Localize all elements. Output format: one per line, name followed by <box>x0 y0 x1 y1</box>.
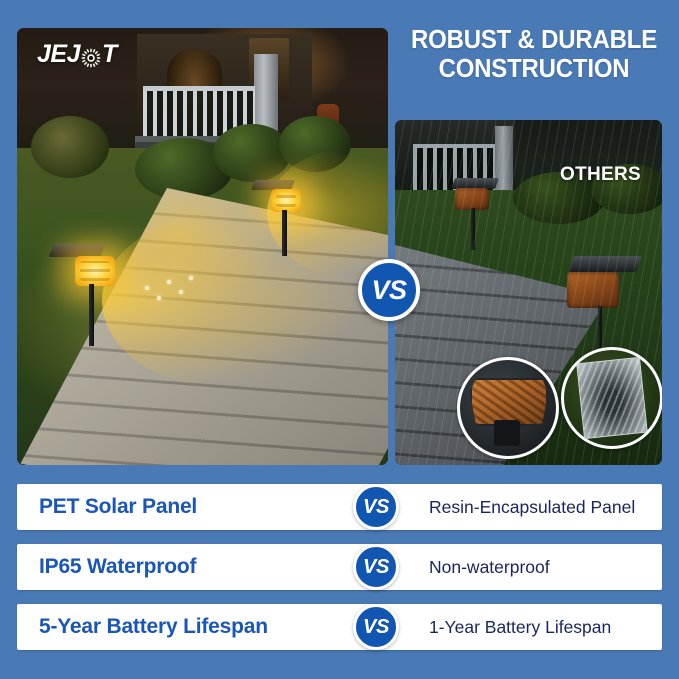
cracked-panel-closeup <box>576 357 648 439</box>
flower <box>189 276 193 280</box>
ground-stake <box>282 210 287 256</box>
corroded-solar-panel <box>568 256 642 272</box>
flower <box>167 280 171 284</box>
feature-ours: PET Solar Panel <box>39 495 197 519</box>
headline-line-2: CONSTRUCTION <box>403 55 664 84</box>
inset-photo-cracked-panel <box>561 347 662 449</box>
others-label: OTHERS <box>560 164 641 186</box>
panel-mount-bracket <box>494 420 520 446</box>
brand-logo: JEJ <box>37 40 117 69</box>
table-row: PET Solar Panel VS Resin-Encapsulated Pa… <box>17 484 662 530</box>
feature-ours: IP65 Waterproof <box>39 555 196 579</box>
rusted-panel-closeup <box>470 378 548 426</box>
infographic-canvas: OTHERS JEJ <box>0 0 679 679</box>
logo-text-before: JEJ <box>37 40 80 69</box>
flower <box>179 290 183 294</box>
feature-ours: 5-Year Battery Lifespan <box>39 615 268 639</box>
shrub <box>31 116 109 178</box>
sun-burst-icon <box>81 46 101 66</box>
vs-badge-row: VS <box>353 484 399 530</box>
lamp-head-dark <box>455 188 489 210</box>
vs-badge-row: VS <box>353 544 399 590</box>
lamp-head-dark <box>567 272 619 308</box>
page-title: ROBUST & DURABLE CONSTRUCTION <box>403 26 664 83</box>
flower <box>157 296 161 300</box>
flower <box>145 286 149 290</box>
feature-theirs: 1-Year Battery Lifespan <box>429 617 611 638</box>
logo-text-after: T <box>102 40 117 69</box>
hero-comparison-image: OTHERS <box>17 28 662 465</box>
ground-stake <box>89 284 94 346</box>
shrub <box>213 124 291 182</box>
feature-theirs: Resin-Encapsulated Panel <box>429 497 635 518</box>
inset-photo-rusted-panel <box>457 357 559 459</box>
lamp-head-glowing <box>75 256 115 286</box>
table-row: IP65 Waterproof VS Non-waterproof <box>17 544 662 590</box>
lamp-head-glowing <box>271 189 301 212</box>
shrub <box>279 116 351 172</box>
ground-stake <box>471 208 475 250</box>
vs-badge-main: VS <box>358 259 420 321</box>
photo-ours-illuminated-garden <box>17 28 388 465</box>
comparison-table: PET Solar Panel VS Resin-Encapsulated Pa… <box>17 484 662 650</box>
headline-line-1: ROBUST & DURABLE <box>403 26 664 55</box>
table-row: 5-Year Battery Lifespan VS 1-Year Batter… <box>17 604 662 650</box>
feature-theirs: Non-waterproof <box>429 557 550 578</box>
vs-badge-row: VS <box>353 604 399 650</box>
